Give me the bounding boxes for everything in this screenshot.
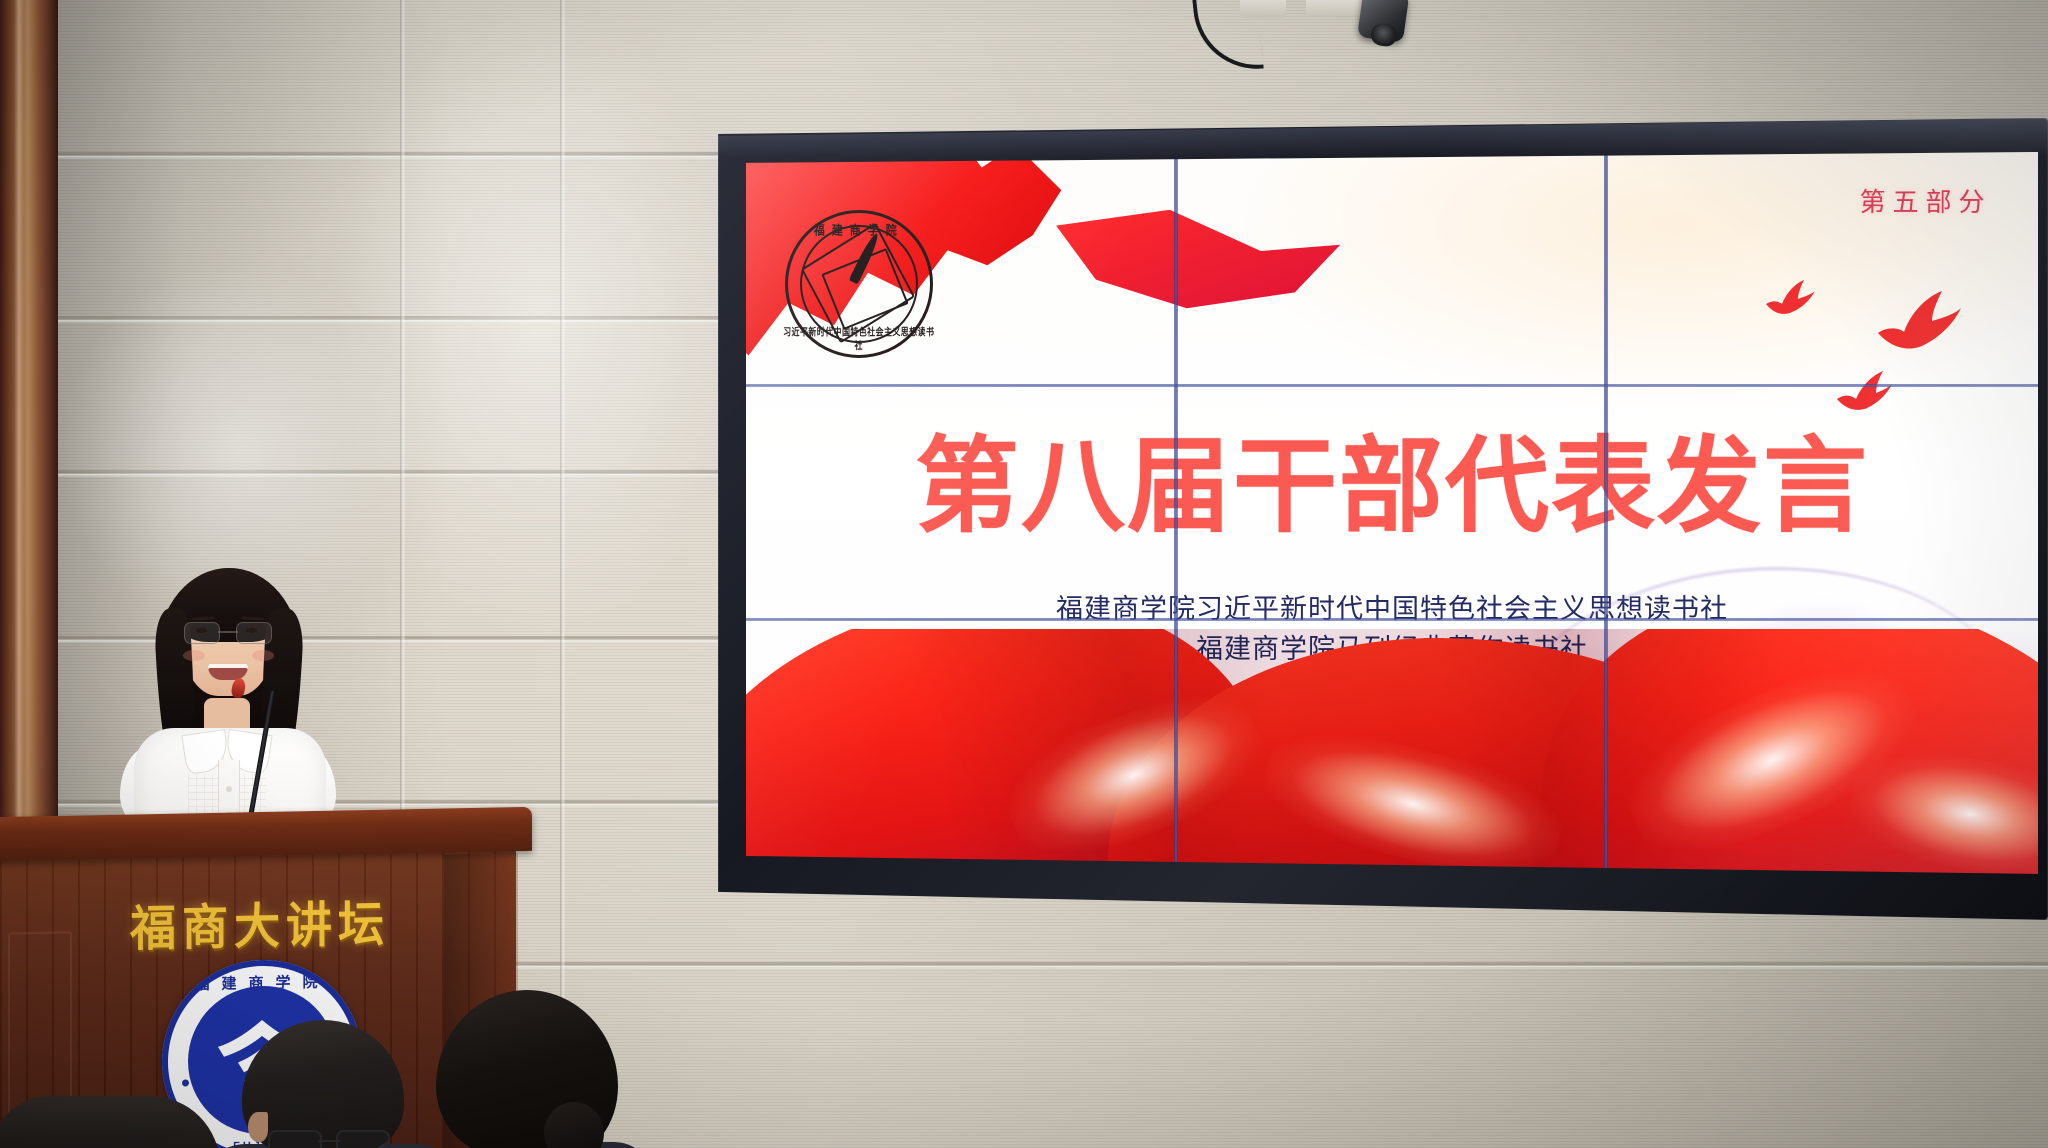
- eye: [246, 628, 257, 633]
- glasses-lens: [268, 1130, 322, 1148]
- smiling-mouth: [208, 664, 248, 680]
- glasses-lens: [336, 1130, 390, 1148]
- reading-society-seal: 福建商学院 习近平新时代中国特色社会主义思想读书社: [785, 210, 933, 358]
- seal-top-text: 福建商学院: [788, 221, 930, 239]
- dove-small-left-icon: [1760, 278, 1816, 324]
- ear: [248, 1112, 268, 1142]
- silk-shading: [746, 629, 2038, 874]
- emblem-dot: [182, 1079, 189, 1086]
- red-flag-tail: [1056, 210, 1340, 369]
- presentation-screen[interactable]: 福建商学院 习近平新时代中国特色社会主义思想读书社 第五部分: [746, 152, 2038, 874]
- emblem-cn-text: 福建商学院: [162, 970, 362, 995]
- slide-main-title: 第八届干部代表发言: [746, 434, 2038, 538]
- glasses-lens: [236, 622, 272, 644]
- glasses-icon: [268, 1130, 390, 1148]
- bezel-sheen: [718, 118, 2048, 158]
- eye: [196, 628, 207, 633]
- cheek: [252, 650, 274, 661]
- audience-woman: [436, 990, 636, 1148]
- red-silk-waves: [746, 629, 2038, 874]
- blouse-button: [226, 786, 232, 792]
- glasses-bridge: [318, 1140, 340, 1142]
- slide-part-label: 第五部分: [1859, 182, 1991, 219]
- audience-man: [232, 1020, 418, 1148]
- ceiling-sensor-mount: [1240, 0, 1286, 18]
- lectern-venue-name: 福商大讲坛: [130, 886, 390, 961]
- video-wall: 福建商学院 习近平新时代中国特色社会主义思想读书社 第五部分: [718, 118, 2048, 920]
- dove-large-right-icon: [1870, 289, 1962, 363]
- conference-hall-photo: 福建商学院 习近平新时代中国特色社会主义思想读书社 第五部分: [0, 0, 2048, 1148]
- dove-small-bottom-icon: [1831, 369, 1893, 419]
- slide-canvas: 福建商学院 习近平新时代中国特色社会主义思想读书社 第五部分: [746, 152, 2038, 874]
- seal-bottom-text: 习近平新时代中国特色社会主义思想读书社: [782, 325, 936, 353]
- glasses-lens: [184, 622, 220, 644]
- cheek: [183, 650, 205, 661]
- glasses-bridge: [218, 631, 238, 633]
